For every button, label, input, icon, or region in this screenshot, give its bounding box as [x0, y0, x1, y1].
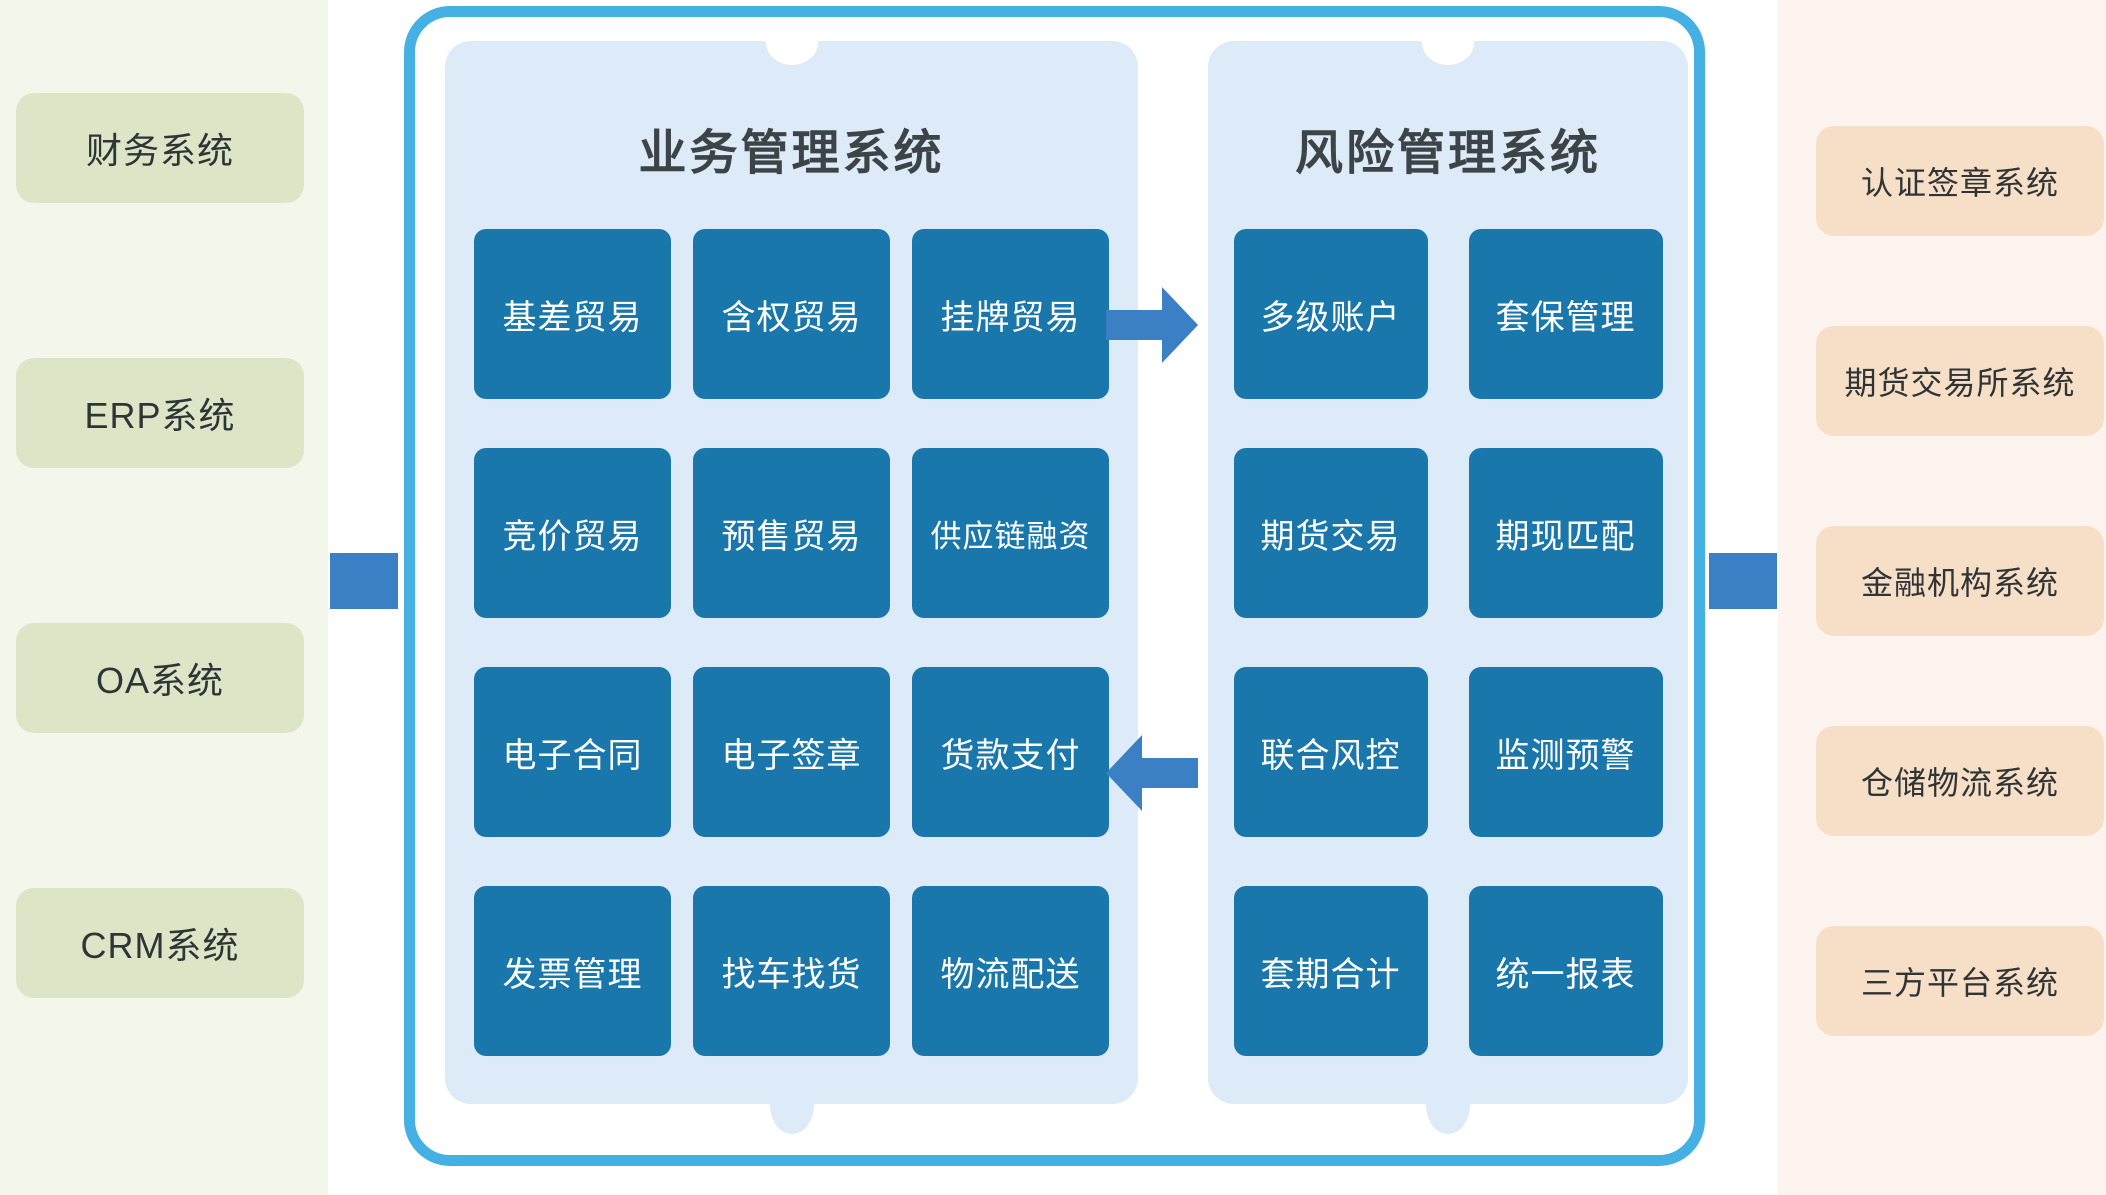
tile-electronic-seal[interactable]: 电子签章: [693, 667, 890, 837]
diagram-canvas: 财务系统 ERP系统 OA系统 CRM系统 认证签章系统 期货交易所系统 金融机…: [0, 0, 2106, 1195]
tile-label: 竞价贸易: [503, 509, 643, 558]
right-system-label: 期货交易所系统: [1844, 358, 2075, 404]
tile-label: 含权贸易: [722, 290, 862, 339]
panel-notch-icon: [766, 39, 818, 65]
tile-hedge-management[interactable]: 套保管理: [1469, 229, 1663, 399]
tile-invoice-management[interactable]: 发票管理: [474, 886, 671, 1056]
left-system-label: ERP系统: [84, 387, 235, 439]
tile-label: 供应链融资: [931, 511, 1091, 556]
panel-title-business: 业务管理系统: [445, 113, 1138, 183]
tile-label: 期现匹配: [1496, 509, 1636, 558]
left-system-card-finance[interactable]: 财务系统: [16, 93, 304, 203]
tile-unified-report[interactable]: 统一报表: [1469, 886, 1663, 1056]
tile-listing-trade[interactable]: 挂牌贸易: [912, 229, 1109, 399]
business-tile-grid: 基差贸易 含权贸易 挂牌贸易 竞价贸易 预售贸易 供应链融资 电子合同 电子签章…: [445, 229, 1138, 1056]
tile-label: 货款支付: [941, 728, 1081, 777]
panel-notch-icon: [1422, 39, 1474, 65]
right-systems-column: 认证签章系统 期货交易所系统 金融机构系统 仓储物流系统 三方平台系统: [1778, 0, 2106, 1195]
tile-find-truck-cargo[interactable]: 找车找货: [693, 886, 890, 1056]
left-systems-column: 财务系统 ERP系统 OA系统 CRM系统: [0, 0, 328, 1195]
tile-label: 统一报表: [1496, 947, 1636, 996]
connector-left-bar: [330, 553, 398, 609]
left-system-label: 财务系统: [86, 122, 234, 174]
tile-multi-level-account[interactable]: 多级账户: [1234, 229, 1428, 399]
tile-payment[interactable]: 货款支付: [912, 667, 1109, 837]
right-system-label: 仓储物流系统: [1861, 758, 2059, 804]
tile-label: 预售贸易: [722, 509, 862, 558]
panel-risk-management: 风险管理系统 多级账户 套保管理 期货交易 期现匹配 联合风控 监测预警 套期合…: [1208, 41, 1688, 1104]
tile-option-trade[interactable]: 含权贸易: [693, 229, 890, 399]
right-system-card-financial-institution[interactable]: 金融机构系统: [1816, 526, 2104, 636]
left-system-label: CRM系统: [81, 917, 240, 969]
tile-joint-risk-control[interactable]: 联合风控: [1234, 667, 1428, 837]
tile-presale-trade[interactable]: 预售贸易: [693, 448, 890, 618]
tile-label: 多级账户: [1261, 290, 1401, 339]
risk-tile-grid: 多级账户 套保管理 期货交易 期现匹配 联合风控 监测预警 套期合计 统一报表: [1208, 229, 1688, 1056]
tile-supply-chain-finance[interactable]: 供应链融资: [912, 448, 1109, 618]
panel-business-management: 业务管理系统 基差贸易 含权贸易 挂牌贸易 竞价贸易 预售贸易 供应链融资 电子…: [445, 41, 1138, 1104]
tile-label: 发票管理: [503, 947, 643, 996]
panel-title-risk: 风险管理系统: [1208, 113, 1688, 183]
right-system-card-certification[interactable]: 认证签章系统: [1816, 126, 2104, 236]
tile-basis-trade[interactable]: 基差贸易: [474, 229, 671, 399]
tile-label: 物流配送: [941, 947, 1081, 996]
left-system-card-crm[interactable]: CRM系统: [16, 888, 304, 998]
tile-futures-trading[interactable]: 期货交易: [1234, 448, 1428, 618]
tile-label: 联合风控: [1261, 728, 1401, 777]
arrow-right-icon: [1106, 287, 1198, 363]
tile-label: 找车找货: [722, 947, 862, 996]
tile-label: 电子签章: [722, 728, 862, 777]
tile-label: 监测预警: [1496, 728, 1636, 777]
left-system-card-erp[interactable]: ERP系统: [16, 358, 304, 468]
tile-label: 期货交易: [1261, 509, 1401, 558]
right-system-label: 认证签章系统: [1861, 158, 2059, 204]
tile-label: 电子合同: [503, 728, 643, 777]
right-system-card-third-party-platform[interactable]: 三方平台系统: [1816, 926, 2104, 1036]
left-system-card-oa[interactable]: OA系统: [16, 623, 304, 733]
right-system-card-warehouse-logistics[interactable]: 仓储物流系统: [1816, 726, 2104, 836]
left-system-label: OA系统: [96, 652, 224, 704]
tile-hedge-total[interactable]: 套期合计: [1234, 886, 1428, 1056]
tile-label: 套期合计: [1261, 947, 1401, 996]
tile-electronic-contract[interactable]: 电子合同: [474, 667, 671, 837]
right-system-label: 三方平台系统: [1861, 958, 2059, 1004]
tile-bidding-trade[interactable]: 竞价贸易: [474, 448, 671, 618]
right-system-card-futures-exchange[interactable]: 期货交易所系统: [1816, 326, 2104, 436]
tile-monitoring-alert[interactable]: 监测预警: [1469, 667, 1663, 837]
right-system-label: 金融机构系统: [1861, 558, 2059, 604]
arrow-left-icon: [1106, 735, 1198, 811]
connector-right-bar: [1709, 553, 1777, 609]
tile-label: 挂牌贸易: [941, 290, 1081, 339]
tile-label: 套保管理: [1496, 290, 1636, 339]
tile-futures-spot-match[interactable]: 期现匹配: [1469, 448, 1663, 618]
tile-logistics-delivery[interactable]: 物流配送: [912, 886, 1109, 1056]
tile-label: 基差贸易: [503, 290, 643, 339]
